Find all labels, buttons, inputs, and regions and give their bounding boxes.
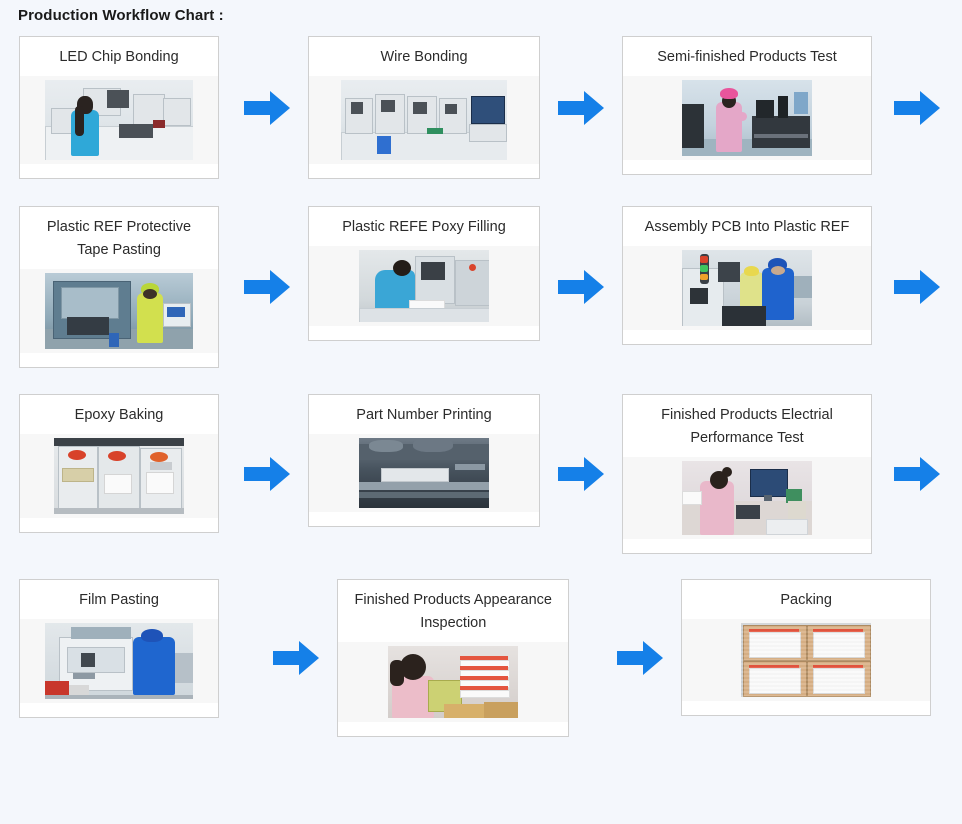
workflow-step-card-10[interactable]: Film Pasting — [19, 579, 219, 718]
step-photo-band — [338, 642, 568, 722]
workflow-cell: Epoxy Baking — [0, 394, 226, 554]
step-photo-part-number-printing — [359, 438, 489, 508]
right-arrow-icon — [273, 638, 319, 678]
workflow-row-3: Epoxy Baking — [0, 394, 962, 554]
step-photo-assembly-pcb — [682, 250, 812, 326]
step-photo-epoxy-baking — [54, 438, 184, 514]
step-photo-semi-finished-test — [682, 80, 812, 156]
step-label: LED Chip Bonding — [20, 37, 218, 76]
flow-arrow-2-to-3 — [540, 36, 622, 179]
workflow-step-card-9[interactable]: Finished Products Electrial Performance … — [622, 394, 872, 554]
step-photo-band — [623, 246, 871, 330]
workflow-row-2: Plastic REF Protective Tape Pasting — [0, 206, 962, 368]
right-arrow-icon — [558, 454, 604, 494]
flow-arrow-5-to-6 — [540, 206, 622, 368]
workflow-row-4: Film Pasting — [0, 579, 962, 737]
right-arrow-icon — [894, 267, 940, 307]
step-photo-protective-tape-pasting — [45, 273, 193, 349]
flow-arrow-7-to-8 — [226, 394, 308, 554]
right-arrow-icon — [244, 267, 290, 307]
flow-arrow-1-to-2 — [226, 36, 308, 179]
flow-arrow-4-to-5 — [226, 206, 308, 368]
workflow-cell: Plastic REF Protective Tape Pasting — [0, 206, 226, 368]
flow-arrow-3-to-4-wrap — [872, 36, 962, 179]
flow-arrow-9-to-10-wrap — [872, 394, 962, 554]
page-title: Production Workflow Chart : — [0, 0, 962, 25]
step-photo-wire-bonding — [341, 80, 507, 160]
workflow-cell: Assembly PCB Into Plastic REF — [622, 206, 872, 368]
workflow-cell: Wire Bonding — [308, 36, 540, 179]
step-photo-band — [309, 246, 539, 326]
flow-arrow-10-to-11 — [255, 579, 337, 737]
step-label: Finished Products Appearance Inspection — [338, 580, 568, 642]
step-photo-band — [309, 434, 539, 512]
workflow-step-card-12[interactable]: Packing — [681, 579, 931, 716]
workflow-cell: Finished Products Electrial Performance … — [622, 394, 872, 554]
workflow-step-card-7[interactable]: Epoxy Baking — [19, 394, 219, 533]
workflow-cell: Part Number Printing — [308, 394, 540, 554]
step-photo-appearance-inspection — [388, 646, 518, 718]
right-arrow-icon — [558, 267, 604, 307]
workflow-step-card-5[interactable]: Plastic REFE Poxy Filling — [308, 206, 540, 341]
flow-arrow-8-to-9 — [540, 394, 622, 554]
step-label: Plastic REFE Poxy Filling — [309, 207, 539, 246]
step-label: Packing — [682, 580, 930, 619]
right-arrow-icon — [894, 88, 940, 128]
step-photo-band — [20, 76, 218, 164]
workflow-step-card-6[interactable]: Assembly PCB Into Plastic REF — [622, 206, 872, 345]
step-photo-epoxy-filling — [359, 250, 489, 322]
workflow-step-card-4[interactable]: Plastic REF Protective Tape Pasting — [19, 206, 219, 368]
workflow-grid: LED Chip Bonding — [0, 25, 962, 737]
step-photo-band — [682, 619, 930, 701]
step-label: Wire Bonding — [309, 37, 539, 76]
step-label: Plastic REF Protective Tape Pasting — [20, 207, 218, 269]
step-label: Assembly PCB Into Plastic REF — [623, 207, 871, 246]
workflow-step-card-2[interactable]: Wire Bonding — [308, 36, 540, 179]
workflow-row-1: LED Chip Bonding — [0, 36, 962, 179]
flow-arrow-6-to-7-wrap — [872, 206, 962, 368]
workflow-cell: Semi-finished Products Test — [622, 36, 872, 179]
right-arrow-icon — [894, 454, 940, 494]
step-label: Part Number Printing — [309, 395, 539, 434]
step-photo-packing — [741, 623, 871, 697]
workflow-cell: LED Chip Bonding — [0, 36, 226, 179]
workflow-cell: Film Pasting — [0, 579, 255, 737]
step-photo-film-pasting — [45, 623, 193, 699]
step-photo-band — [20, 619, 218, 703]
workflow-step-card-1[interactable]: LED Chip Bonding — [19, 36, 219, 179]
step-label: Epoxy Baking — [20, 395, 218, 434]
right-arrow-icon — [558, 88, 604, 128]
step-photo-band — [20, 269, 218, 353]
workflow-cell: Packing — [681, 579, 962, 737]
step-photo-led-chip-bonding — [45, 80, 193, 160]
right-arrow-icon — [617, 638, 663, 678]
step-label: Film Pasting — [20, 580, 218, 619]
workflow-step-card-11[interactable]: Finished Products Appearance Inspection — [337, 579, 569, 737]
right-arrow-icon — [244, 454, 290, 494]
step-photo-band — [623, 76, 871, 160]
step-photo-electrical-performance-test — [682, 461, 812, 535]
step-photo-band — [20, 434, 218, 518]
workflow-cell: Plastic REFE Poxy Filling — [308, 206, 540, 368]
step-photo-band — [309, 76, 539, 164]
flow-arrow-11-to-12 — [599, 579, 681, 737]
workflow-cell: Finished Products Appearance Inspection — [337, 579, 599, 737]
workflow-step-card-3[interactable]: Semi-finished Products Test — [622, 36, 872, 175]
step-photo-band — [623, 457, 871, 539]
workflow-step-card-8[interactable]: Part Number Printing — [308, 394, 540, 527]
right-arrow-icon — [244, 88, 290, 128]
step-label: Semi-finished Products Test — [623, 37, 871, 76]
step-label: Finished Products Electrial Performance … — [623, 395, 871, 457]
